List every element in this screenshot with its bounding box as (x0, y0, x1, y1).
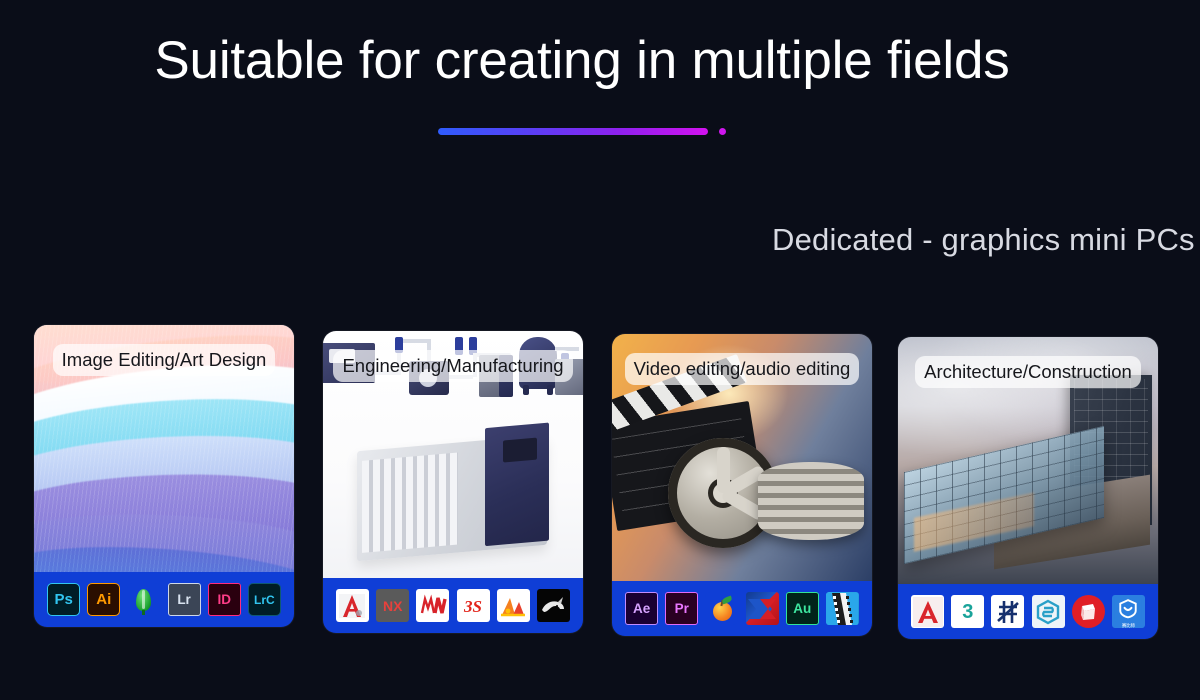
photoshop-icon[interactable]: Ps (47, 583, 80, 616)
category-card-engineering[interactable]: Engineering/Manufacturing NX (323, 331, 583, 633)
lightroom-classic-icon[interactable]: LrC (248, 583, 281, 616)
app-icon-bar: Ps Ai Lr ID LrC (34, 572, 294, 627)
app-icon-bar: 3 (898, 584, 1158, 639)
indesign-icon[interactable]: ID (208, 583, 241, 616)
ansys-icon[interactable] (497, 589, 530, 622)
card-media-abstract-waves (34, 325, 294, 572)
dassault-3ds-icon[interactable]: 3S (457, 589, 490, 622)
page-root: Suitable for creating in multiple fields… (0, 0, 1200, 700)
cad-cn-icon[interactable]: 赛比师 (1112, 595, 1145, 628)
autocad-icon[interactable] (336, 589, 369, 622)
fl-studio-icon[interactable] (705, 592, 738, 625)
category-card-video-editing[interactable]: Video editing/audio editing Ae Pr Au (612, 334, 872, 636)
audition-icon[interactable]: Au (786, 592, 819, 625)
autocad-icon[interactable] (911, 595, 944, 628)
illustrator-icon[interactable]: Ai (87, 583, 120, 616)
card-media-glass-building (898, 337, 1158, 584)
revit-icon[interactable] (991, 595, 1024, 628)
sweet-home-icon[interactable] (1032, 595, 1065, 628)
card-media-film-reel (612, 334, 872, 581)
app-icon-bar: NX 3S (323, 578, 583, 633)
category-card-grid: Image Editing/Art Design Ps Ai Lr ID LrC (0, 0, 1200, 700)
premiere-pro-icon[interactable]: Pr (665, 592, 698, 625)
3ds-max-icon[interactable]: 3 (951, 595, 984, 628)
after-effects-icon[interactable]: Ae (625, 592, 658, 625)
coreldraw-icon[interactable] (127, 583, 160, 616)
category-card-architecture[interactable]: Architecture/Construction 3 (898, 337, 1158, 639)
vegas-pro-icon[interactable] (746, 592, 779, 625)
siemens-nx-icon[interactable]: NX (376, 589, 409, 622)
cad-cn-icon-label: 赛比师 (1122, 624, 1135, 629)
sketchup-icon[interactable] (1072, 595, 1105, 628)
svg-text:3S: 3S (463, 597, 482, 616)
mastercam-icon[interactable] (416, 589, 449, 622)
lightroom-icon[interactable]: Lr (168, 583, 201, 616)
film-strip-editor-icon[interactable] (826, 592, 859, 625)
app-icon-bar: Ae Pr Au (612, 581, 872, 636)
category-card-image-editing[interactable]: Image Editing/Art Design Ps Ai Lr ID LrC (34, 325, 294, 627)
rhino-icon[interactable] (537, 589, 570, 622)
card-media-industrial-machinery (323, 331, 583, 578)
